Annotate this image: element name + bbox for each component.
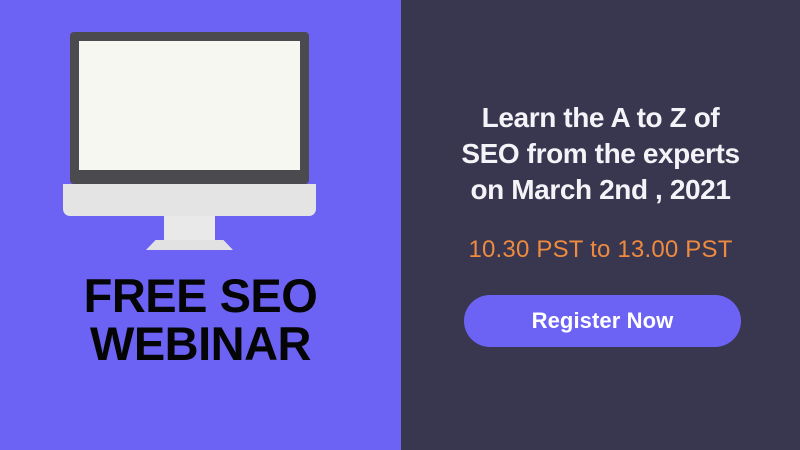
right-panel: Learn the A to Z of SEO from the experts… <box>401 0 800 450</box>
headline: Learn the A to Z of SEO from the experts… <box>401 100 800 208</box>
monitor-screen <box>79 41 300 170</box>
desktop-monitor-illustration <box>0 32 401 250</box>
headline-line-2: SEO from the experts <box>401 136 800 172</box>
headline-line-1: Learn the A to Z of <box>401 100 800 136</box>
monitor-stand-base <box>146 240 233 250</box>
headline-line-3: on March 2nd , 2021 <box>401 172 800 208</box>
left-title-line-2: WEBINAR <box>0 320 401 368</box>
register-now-button[interactable]: Register Now <box>464 295 741 347</box>
left-title: FREE SEO WEBINAR <box>0 272 401 368</box>
monitor-chin <box>63 184 316 216</box>
webinar-time-text: 10.30 PST to 13.00 PST <box>401 236 800 264</box>
left-title-line-1: FREE SEO <box>0 272 401 320</box>
left-panel: FREE SEO WEBINAR <box>0 0 401 450</box>
seo-webinar-banner: FREE SEO WEBINAR Learn the A to Z of SEO… <box>0 0 800 450</box>
